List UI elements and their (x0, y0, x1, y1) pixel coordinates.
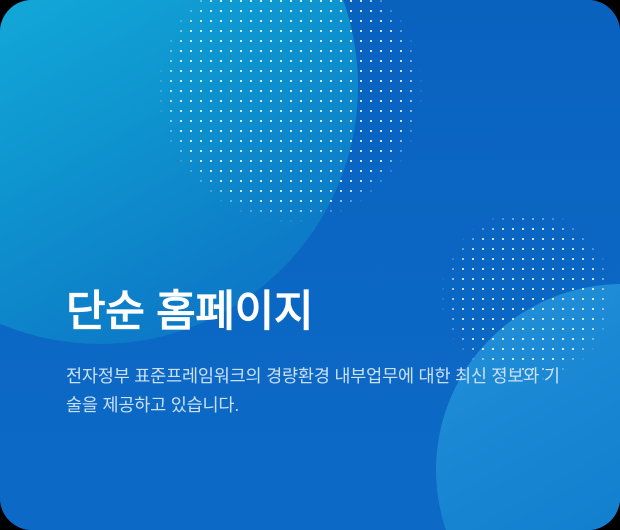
dot-grid-top (156, 0, 424, 224)
hero-subtitle: 전자정부 표준프레임워크의 경량환경 내부업무에 대한 최신 정보와 기술을 제… (66, 338, 566, 420)
hero-content: 단순 홈페이지 전자정부 표준프레임워크의 경량환경 내부업무에 대한 최신 정… (66, 286, 572, 420)
page-title: 단순 홈페이지 (66, 286, 572, 338)
hero-banner: 단순 홈페이지 전자정부 표준프레임워크의 경량환경 내부업무에 대한 최신 정… (0, 0, 620, 530)
background-base-fill (0, 0, 620, 530)
decorative-background (0, 0, 620, 530)
